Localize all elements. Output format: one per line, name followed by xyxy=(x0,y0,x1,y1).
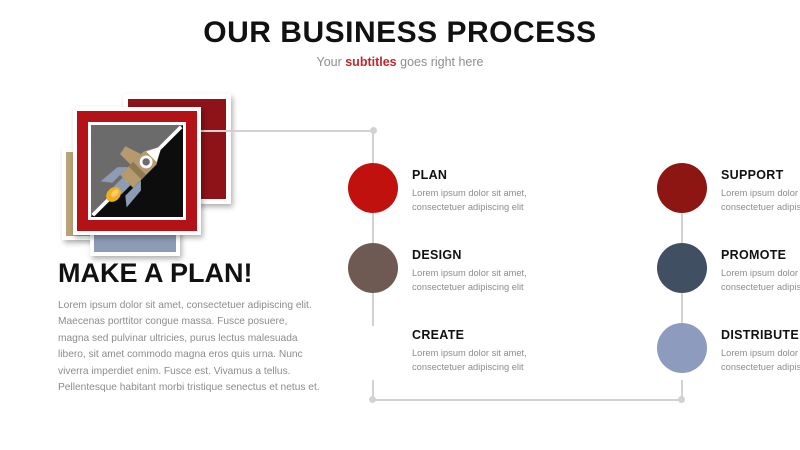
rocket-illustration xyxy=(91,125,183,217)
step-distribute-label: DISTRIBUTE xyxy=(721,328,799,342)
step-plan-desc: Lorem ipsum dolor sit amet, consectetuer… xyxy=(412,187,572,214)
step-create-desc: Lorem ipsum dolor sit amet, consectetuer… xyxy=(412,347,572,374)
step-distribute-bubble[interactable] xyxy=(657,323,707,373)
step-design-bubble[interactable] xyxy=(348,243,398,293)
step-support[interactable]: SUPPORT Lorem ipsum dolor sit amet, cons… xyxy=(657,163,800,215)
step-promote-bubble[interactable] xyxy=(657,243,707,293)
step-plan-bubble[interactable] xyxy=(348,163,398,213)
frame-main-white-border xyxy=(88,122,186,220)
connector-bottom-horizontal xyxy=(373,399,682,401)
step-distribute[interactable]: DISTRIBUTE Lorem ipsum dolor sit amet, c… xyxy=(657,323,800,375)
frame-main-red-border xyxy=(77,111,197,231)
photo-stack xyxy=(55,90,245,250)
feature-body-text: Lorem ipsum dolor sit amet, consectetuer… xyxy=(58,298,320,396)
step-create[interactable]: CREATE Lorem ipsum dolor sit amet, conse… xyxy=(348,323,578,375)
step-promote[interactable]: PROMOTE Lorem ipsum dolor sit amet, cons… xyxy=(657,243,800,295)
step-design-label: DESIGN xyxy=(412,248,462,262)
step-support-desc: Lorem ipsum dolor sit amet, consectetuer… xyxy=(721,187,800,214)
step-design[interactable]: DESIGN Lorem ipsum dolor sit amet, conse… xyxy=(348,243,578,295)
step-create-bubble[interactable] xyxy=(348,323,398,373)
subtitle-accent: subtitles xyxy=(345,55,396,69)
subtitle-text-before: Your xyxy=(317,55,346,69)
step-promote-desc: Lorem ipsum dolor sit amet, consectetuer… xyxy=(721,267,800,294)
step-support-bubble[interactable] xyxy=(657,163,707,213)
slide-canvas: OUR BUSINESS PROCESS Your subtitles goes… xyxy=(0,0,800,450)
step-promote-label: PROMOTE xyxy=(721,248,786,262)
feature-heading: MAKE A PLAN! xyxy=(58,258,252,289)
step-plan-label: PLAN xyxy=(412,168,447,182)
subtitle-text-after: goes right here xyxy=(397,55,484,69)
connector-node-bottom-right xyxy=(678,396,685,403)
step-create-label: CREATE xyxy=(412,328,464,342)
frame-main-photo[interactable] xyxy=(73,107,201,235)
step-design-desc: Lorem ipsum dolor sit amet, consectetuer… xyxy=(412,267,572,294)
page-subtitle: Your subtitles goes right here xyxy=(0,55,800,69)
step-support-label: SUPPORT xyxy=(721,168,784,182)
step-plan[interactable]: PLAN Lorem ipsum dolor sit amet, consect… xyxy=(348,163,578,215)
connector-node-bottom-left xyxy=(369,396,376,403)
step-distribute-desc: Lorem ipsum dolor sit amet, consectetuer… xyxy=(721,347,800,374)
page-title: OUR BUSINESS PROCESS xyxy=(0,16,800,50)
